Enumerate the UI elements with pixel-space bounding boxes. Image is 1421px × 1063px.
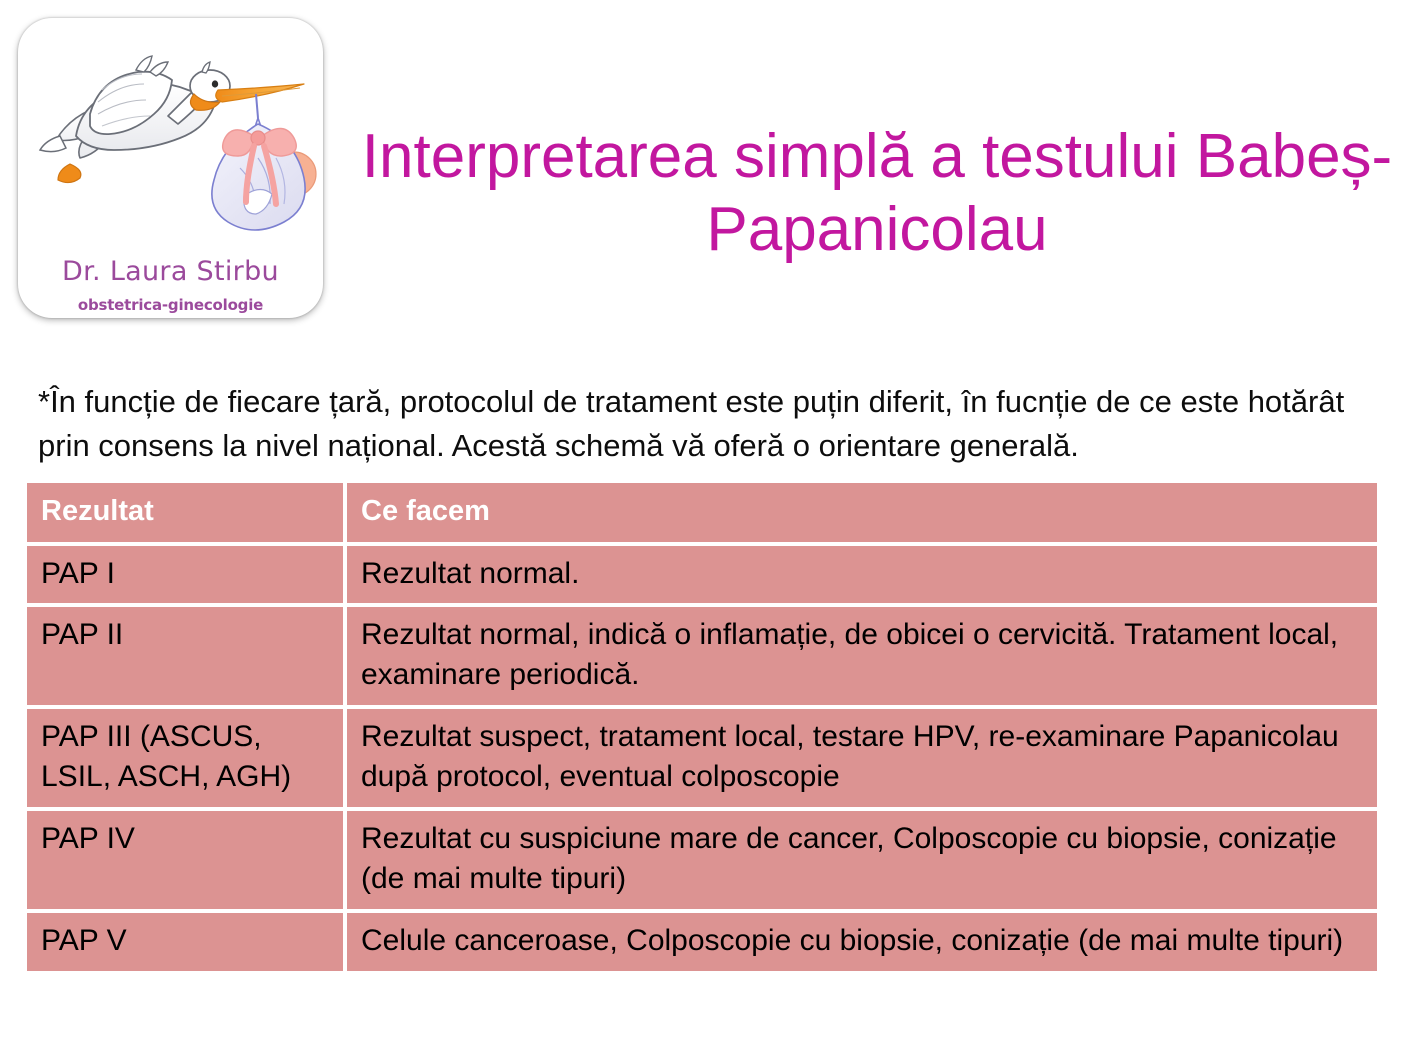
column-header-result: Rezultat <box>27 483 343 542</box>
logo-specialty: obstetrica-ginecologie <box>18 296 323 314</box>
logo-doctor-name: Dr. Laura Stirbu <box>18 256 323 287</box>
cell-result: PAP IV <box>27 811 343 909</box>
table-row: PAP IV Rezultat cu suspiciune mare de ca… <box>27 811 1377 909</box>
pap-results-table: Rezultat Ce facem PAP I Rezultat normal.… <box>23 479 1381 975</box>
table-row: PAP II Rezultat normal, indică o inflama… <box>27 607 1377 705</box>
cell-result: PAP II <box>27 607 343 705</box>
stork-carrying-baby-bundle-icon <box>18 18 323 248</box>
page-title: Interpretarea simplă a testului Babeș-Pa… <box>352 120 1402 266</box>
logo-card: Dr. Laura Stirbu obstetrica-ginecologie <box>18 18 323 318</box>
cell-result: PAP I <box>27 546 343 604</box>
cell-action: Rezultat normal. <box>347 546 1377 604</box>
cell-action: Rezultat normal, indică o inflamație, de… <box>347 607 1377 705</box>
column-header-action: Ce facem <box>347 483 1377 542</box>
cell-result: PAP V <box>27 913 343 971</box>
cell-action: Rezultat suspect, tratament local, testa… <box>347 709 1377 807</box>
disclaimer-note: *În funcție de fiecare țară, protocolul … <box>38 380 1358 468</box>
cell-action: Rezultat cu suspiciune mare de cancer, C… <box>347 811 1377 909</box>
table-row: PAP V Celule canceroase, Colposcopie cu … <box>27 913 1377 971</box>
table-header-row: Rezultat Ce facem <box>27 483 1377 542</box>
table-row: PAP I Rezultat normal. <box>27 546 1377 604</box>
table-row: PAP III (ASCUS, LSIL, ASCH, AGH) Rezulta… <box>27 709 1377 807</box>
cell-action: Celule canceroase, Colposcopie cu biopsi… <box>347 913 1377 971</box>
cell-result: PAP III (ASCUS, LSIL, ASCH, AGH) <box>27 709 343 807</box>
